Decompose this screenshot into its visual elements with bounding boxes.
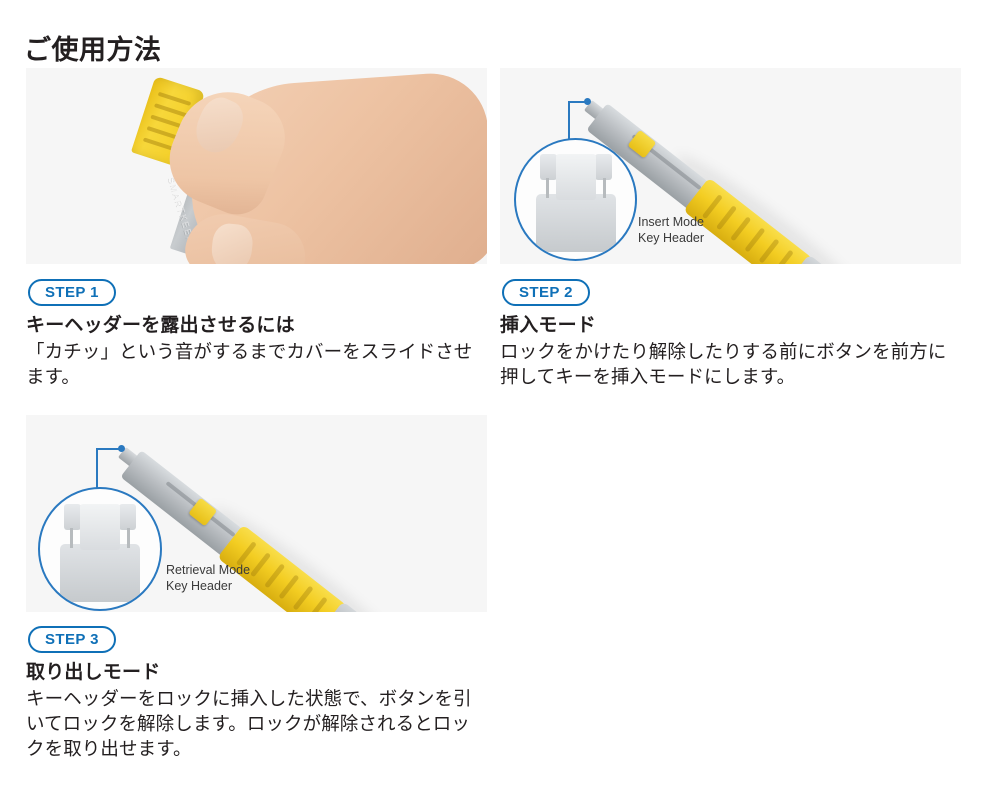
page-title: ご使用方法 [24,28,162,67]
callout-circle-retrieval [38,487,162,611]
step-1-badge: STEP 1 [28,279,116,306]
callout-label-retrieval: Retrieval Mode Key Header [166,562,250,594]
callout-label-insert: Insert Mode Key Header [638,214,704,246]
step-2-badge: STEP 2 [502,279,590,306]
step-3-text: 取り出しモード キーヘッダーをロックに挿入した状態で、ボタンを引いてロックを解除… [26,660,488,761]
key-header-zoom [46,487,154,602]
step-1-heading: キーヘッダーを露出させるには [26,313,488,338]
hand-illustration: SMARTKEEPER [26,68,487,264]
key-header-zoom [522,138,630,252]
callout-circle-insert [514,138,637,261]
step-3-body: キーヘッダーをロックに挿入した状態で、ボタンを引いてロックを解除します。ロックが… [26,686,488,761]
step-2-body: ロックをかけたり解除したりする前にボタンを前方に押してキーを挿入モードにします。 [500,339,962,389]
step-2-heading: 挿入モード [500,313,962,338]
step-3-badge: STEP 3 [28,626,116,653]
step-2-text: 挿入モード ロックをかけたり解除したりする前にボタンを前方に押してキーを挿入モー… [500,313,962,389]
step-2-photo: Insert Mode Key Header [500,68,961,264]
callout-leader-vertical [96,448,98,488]
step-3-photo: Retrieval Mode Key Header [26,415,487,612]
step-1-text: キーヘッダーを露出させるには 「カチッ」という音がするまでカバーをスライドさせま… [26,313,488,389]
step-1-photo: SMARTKEEPER [26,68,487,264]
step-3-heading: 取り出しモード [26,660,488,685]
callout-leader-vertical [568,101,570,139]
callout-leader-line [96,448,122,450]
step-1-body: 「カチッ」という音がするまでカバーをスライドさせます。 [26,339,488,389]
instructions-page: ご使用方法 SMARTKEEPER STEP 1 キーヘッダーを露出させるには … [0,0,1000,794]
